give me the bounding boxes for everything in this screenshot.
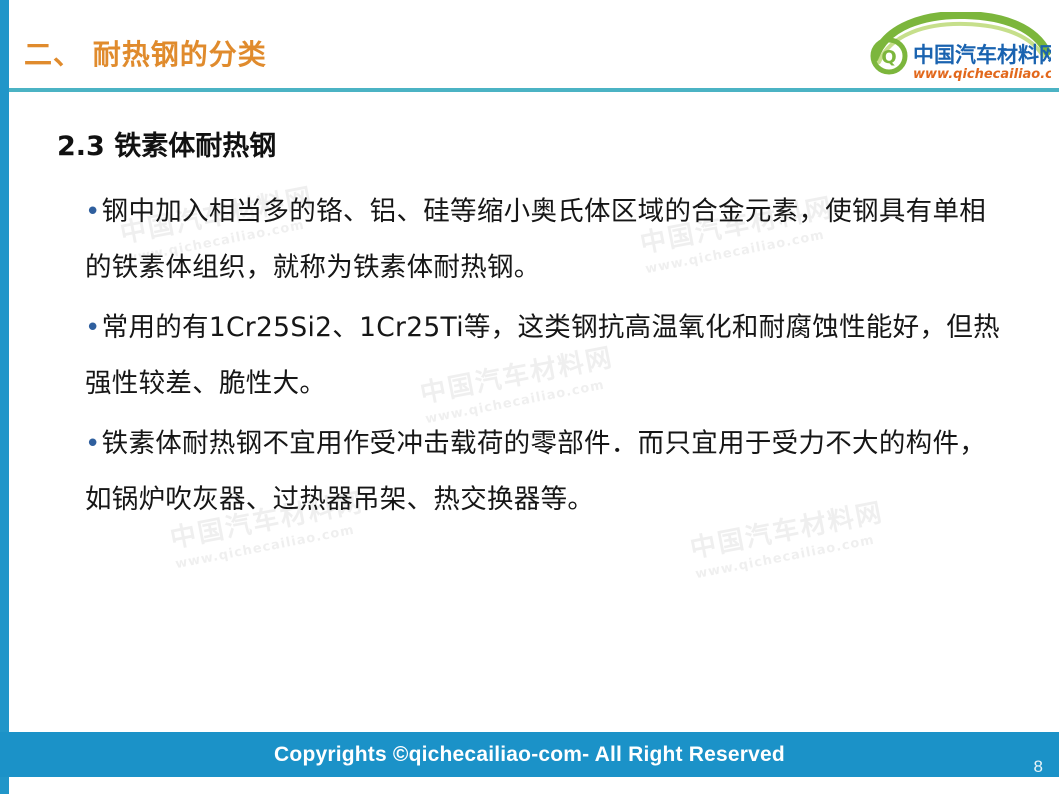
logo-graphic: Q 中国汽车材料网 www.qichecailiao.com: [869, 12, 1051, 86]
page-number: 8: [1034, 757, 1043, 777]
slide-footer: Copyrights ©qichecailiao-com- All Right …: [0, 732, 1059, 777]
slide-header: 二、 耐热钢的分类 Q 中国汽车材料网 www.qichecailiao.com: [0, 0, 1059, 92]
copyright-text: Copyrights ©qichecailiao-com- All Right …: [0, 732, 1059, 777]
bullet-text: 铁素体耐热钢不宜用作受冲击载荷的零部件．而只宜用于受力不大的构件，如锅炉吹灰器、…: [85, 428, 986, 515]
svg-text:www.qichecailiao.com: www.qichecailiao.com: [913, 67, 1051, 82]
svg-text:Q: Q: [881, 47, 896, 68]
svg-text:中国汽车材料网: 中国汽车材料网: [913, 43, 1051, 67]
bullet-text: 钢中加入相当多的铬、铝、硅等缩小奥氏体区域的合金元素，使钢具有单相的铁素体组织，…: [85, 196, 986, 283]
bullet-item: •钢中加入相当多的铬、铝、硅等缩小奥氏体区域的合金元素，使钢具有单相的铁素体组织…: [85, 184, 1010, 296]
bullet-list: •钢中加入相当多的铬、铝、硅等缩小奥氏体区域的合金元素，使钢具有单相的铁素体组织…: [85, 184, 1010, 532]
bullet-text: 常用的有1Cr25Si2、1Cr25Ti等，这类钢抗高温氧化和耐腐蚀性能好，但热…: [85, 312, 1000, 399]
site-logo[interactable]: Q 中国汽车材料网 www.qichecailiao.com: [869, 12, 1051, 86]
page-title: 二、 耐热钢的分类: [24, 33, 267, 73]
slide: 二、 耐热钢的分类 Q 中国汽车材料网 www.qichecailiao.com…: [0, 0, 1059, 794]
bullet-item: •铁素体耐热钢不宜用作受冲击载荷的零部件．而只宜用于受力不大的构件，如锅炉吹灰器…: [85, 416, 1010, 528]
bullet-item: •常用的有1Cr25Si2、1Cr25Ti等，这类钢抗高温氧化和耐腐蚀性能好，但…: [85, 300, 1010, 412]
bullet-marker: •: [85, 429, 101, 459]
bullet-marker: •: [85, 313, 101, 343]
bullet-marker: •: [85, 197, 101, 227]
section-subheading: 2.3 铁素体耐热钢: [57, 124, 276, 163]
slide-body: 2.3 铁素体耐热钢 •钢中加入相当多的铬、铝、硅等缩小奥氏体区域的合金元素，使…: [0, 92, 1059, 732]
